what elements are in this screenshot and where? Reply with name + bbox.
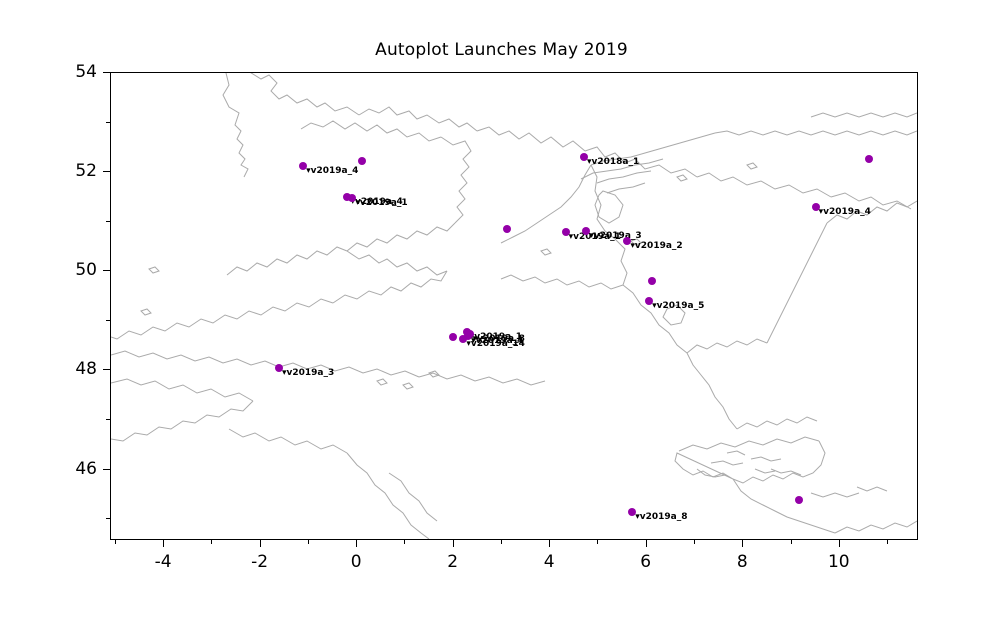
data-point-label: ▾v2018a_1 [587,158,639,167]
x-axis-major-tick [549,540,550,547]
x-axis-major-tick [356,540,357,547]
x-axis-tick-label: 6 [640,552,651,572]
x-axis-major-tick [646,540,647,547]
y-axis-tick-label: 48 [75,359,97,379]
scatter-plot-axes[interactable]: ▾v2019a_4▾v2019a_4▾v2019a_1▾v2018a_1▾v20… [110,72,918,540]
x-axis-minor-tick [404,540,405,544]
y-axis-minor-tick [106,122,110,123]
x-axis-minor-tick [308,540,309,544]
data-point[interactable] [865,155,873,163]
x-axis-tick-label: 8 [737,552,748,572]
data-point-label: ▾v2019a_5 [652,302,704,311]
x-axis-minor-tick [501,540,502,544]
y-axis-tick-label: 54 [75,62,97,82]
y-axis-major-tick [103,469,110,470]
x-axis-minor-tick [597,540,598,544]
y-axis-tick-label: 46 [75,459,97,479]
y-axis-major-tick [103,171,110,172]
x-axis-minor-tick [115,540,116,544]
x-axis-minor-tick [887,540,888,544]
x-axis-tick-label: -2 [251,552,268,572]
x-axis-tick-label: 4 [544,552,555,572]
x-axis-major-tick [163,540,164,547]
data-point[interactable] [449,333,457,341]
y-axis-minor-tick [106,221,110,222]
y-axis-minor-tick [106,518,110,519]
x-axis-major-tick [453,540,454,547]
y-axis-major-tick [103,270,110,271]
page-title: Autoplot Launches May 2019 [0,40,1003,60]
y-axis-minor-tick [106,419,110,420]
y-axis-tick-label: 52 [75,161,97,181]
x-axis-tick-label: 2 [447,552,458,572]
x-axis-tick-label: 10 [828,552,850,572]
data-point-label: ▾v2019a_3 [282,369,334,378]
data-point-label: ▾v2019a_14 [466,340,525,349]
y-axis-major-tick [103,369,110,370]
x-axis-major-tick [742,540,743,547]
data-point-label: ▾v2019a_1 [355,199,407,208]
data-point[interactable] [503,225,511,233]
coastline-map [111,73,917,539]
x-axis-tick-label: -4 [155,552,172,572]
matplotlib-figure: Autoplot Launches May 2019 [0,0,1003,633]
y-axis-major-tick [103,72,110,73]
data-point-label: ▾v2019a_4 [306,167,358,176]
y-axis-minor-tick [106,320,110,321]
x-axis-tick-label: 0 [351,552,362,572]
y-axis-tick-label: 50 [75,260,97,280]
data-point-label: ▾v2019a_3 [589,232,641,241]
data-point-label: ▾v2019a_2 [630,242,682,251]
x-axis-minor-tick [694,540,695,544]
x-axis-major-tick [839,540,840,547]
data-point[interactable] [648,277,656,285]
x-axis-minor-tick [211,540,212,544]
x-axis-minor-tick [791,540,792,544]
data-point-label: ▾v2019a_8 [635,513,687,522]
data-point-label: ▾v2019a_4 [819,208,871,217]
x-axis-major-tick [260,540,261,547]
